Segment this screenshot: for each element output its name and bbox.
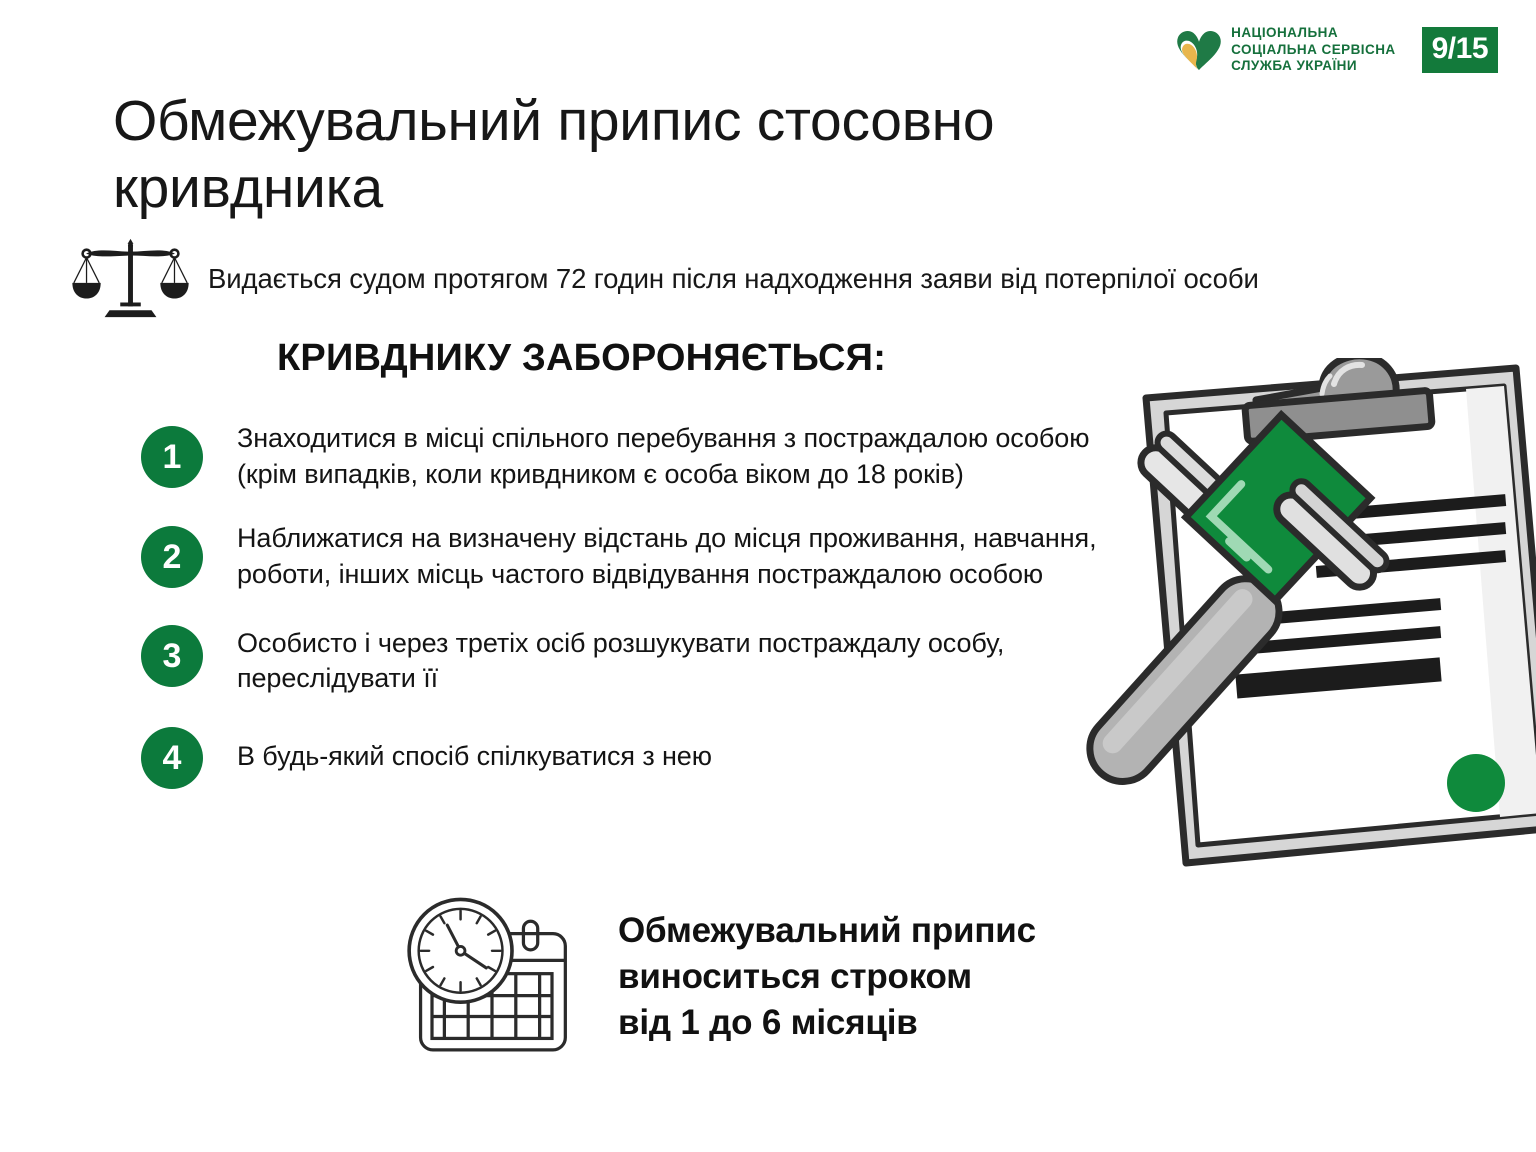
- subtitle-text: Видається судом протягом 72 годин після …: [208, 262, 1259, 296]
- heart-logo-icon: [1176, 28, 1222, 72]
- list-number-badge: 3: [141, 625, 203, 687]
- list-item-text: Особисто і через третіх осіб розшукувати…: [237, 623, 1101, 697]
- duration-text: Обмежувальний припис виноситься строком …: [618, 908, 1036, 1047]
- page-number-badge: 9/15: [1422, 27, 1498, 73]
- list-item: 1 Знаходитися в місці спільного перебува…: [141, 418, 1101, 492]
- slide-header: НАЦІОНАЛЬНА СОЦІАЛЬНА СЕРВІСНА СЛУЖБА УК…: [1176, 26, 1498, 74]
- list-item: 2 Наближатися на визначену відстань до м…: [141, 518, 1101, 592]
- list-number-badge: 1: [141, 426, 203, 488]
- duration-line-3: від 1 до 6 місяців: [618, 1000, 1036, 1046]
- document-seal: [1447, 754, 1505, 812]
- brand-text: НАЦІОНАЛЬНА СОЦІАЛЬНА СЕРВІСНА СЛУЖБА УК…: [1231, 26, 1395, 74]
- scales-of-justice-icon: [72, 236, 190, 322]
- list-item: 4 В будь-який спосіб спілкуватися з нею: [141, 729, 1101, 789]
- brand-lockup: НАЦІОНАЛЬНА СОЦІАЛЬНА СЕРВІСНА СЛУЖБА УК…: [1176, 26, 1395, 74]
- duration-callout: Обмежувальний припис виноситься строком …: [392, 892, 1036, 1062]
- page-title: Обмежувальний припис стосовно кривдника: [113, 88, 1163, 221]
- list-number-badge: 4: [141, 727, 203, 789]
- list-item: 3 Особисто і через третіх осіб розшукува…: [141, 623, 1101, 697]
- section-heading: КРИВДНИКУ ЗАБОРОНЯЄТЬСЯ:: [277, 338, 886, 380]
- list-item-text: Знаходитися в місці спільного перебуванн…: [237, 418, 1101, 492]
- brand-line-1: НАЦІОНАЛЬНА: [1231, 26, 1395, 41]
- clock-calendar-icon: [392, 892, 592, 1062]
- gavel-on-clipboard-illustration: [1086, 358, 1536, 868]
- prohibitions-list: 1 Знаходитися в місці спільного перебува…: [141, 418, 1101, 819]
- list-item-text: В будь-який спосіб спілкуватися з нею: [237, 729, 712, 775]
- slide-root: НАЦІОНАЛЬНА СОЦІАЛЬНА СЕРВІСНА СЛУЖБА УК…: [0, 0, 1536, 1152]
- duration-line-1: Обмежувальний припис: [618, 908, 1036, 954]
- subtitle-row: Видається судом протягом 72 годин після …: [72, 236, 1492, 322]
- brand-line-3: СЛУЖБА УКРАЇНИ: [1231, 59, 1395, 74]
- list-item-text: Наближатися на визначену відстань до міс…: [237, 518, 1101, 592]
- duration-line-2: виноситься строком: [618, 954, 1036, 1000]
- brand-line-2: СОЦІАЛЬНА СЕРВІСНА: [1231, 43, 1395, 58]
- list-number-badge: 2: [141, 526, 203, 588]
